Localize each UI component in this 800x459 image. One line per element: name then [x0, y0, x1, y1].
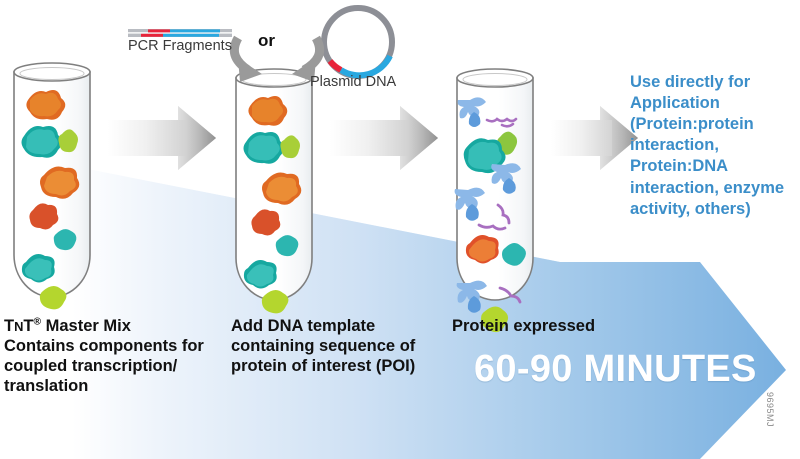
- step-1-caption: TNT® Master Mix Contains components for …: [4, 316, 219, 397]
- figure-canvas: PCR Fragments or Plasmid DNA TNT® Master…: [0, 0, 800, 459]
- test-tube-1: [14, 63, 90, 309]
- step-1-title: TNT® Master Mix: [4, 316, 219, 336]
- figure-code: 9695MJ: [765, 392, 775, 452]
- flow-arrow-2: [330, 106, 438, 170]
- timing-label: 60-90 MINUTES: [474, 348, 757, 391]
- flow-arrow-1: [108, 106, 216, 170]
- application-text: Use directly for Application (Protein:pr…: [630, 72, 800, 220]
- pcr-fragment-graphic: [128, 29, 232, 37]
- test-tube-3: [455, 69, 533, 332]
- plasmid-dna-graphic: [324, 8, 392, 76]
- step-3-title: Protein expressed: [452, 316, 682, 336]
- step-2-caption: Add DNA template containing sequence of …: [231, 316, 443, 376]
- test-tube-2: [236, 69, 312, 313]
- step-2-body: containing sequence of protein of intere…: [231, 336, 443, 376]
- step-2-title: Add DNA template: [231, 316, 443, 336]
- or-label: or: [258, 31, 275, 51]
- step-1-body: Contains components for coupled transcri…: [4, 336, 219, 396]
- flow-arrow-3: [551, 106, 638, 170]
- plasmid-dna-label: Plasmid DNA: [310, 74, 396, 90]
- step-3-caption: Protein expressed: [452, 316, 682, 336]
- pcr-fragments-label: PCR Fragments: [128, 38, 232, 54]
